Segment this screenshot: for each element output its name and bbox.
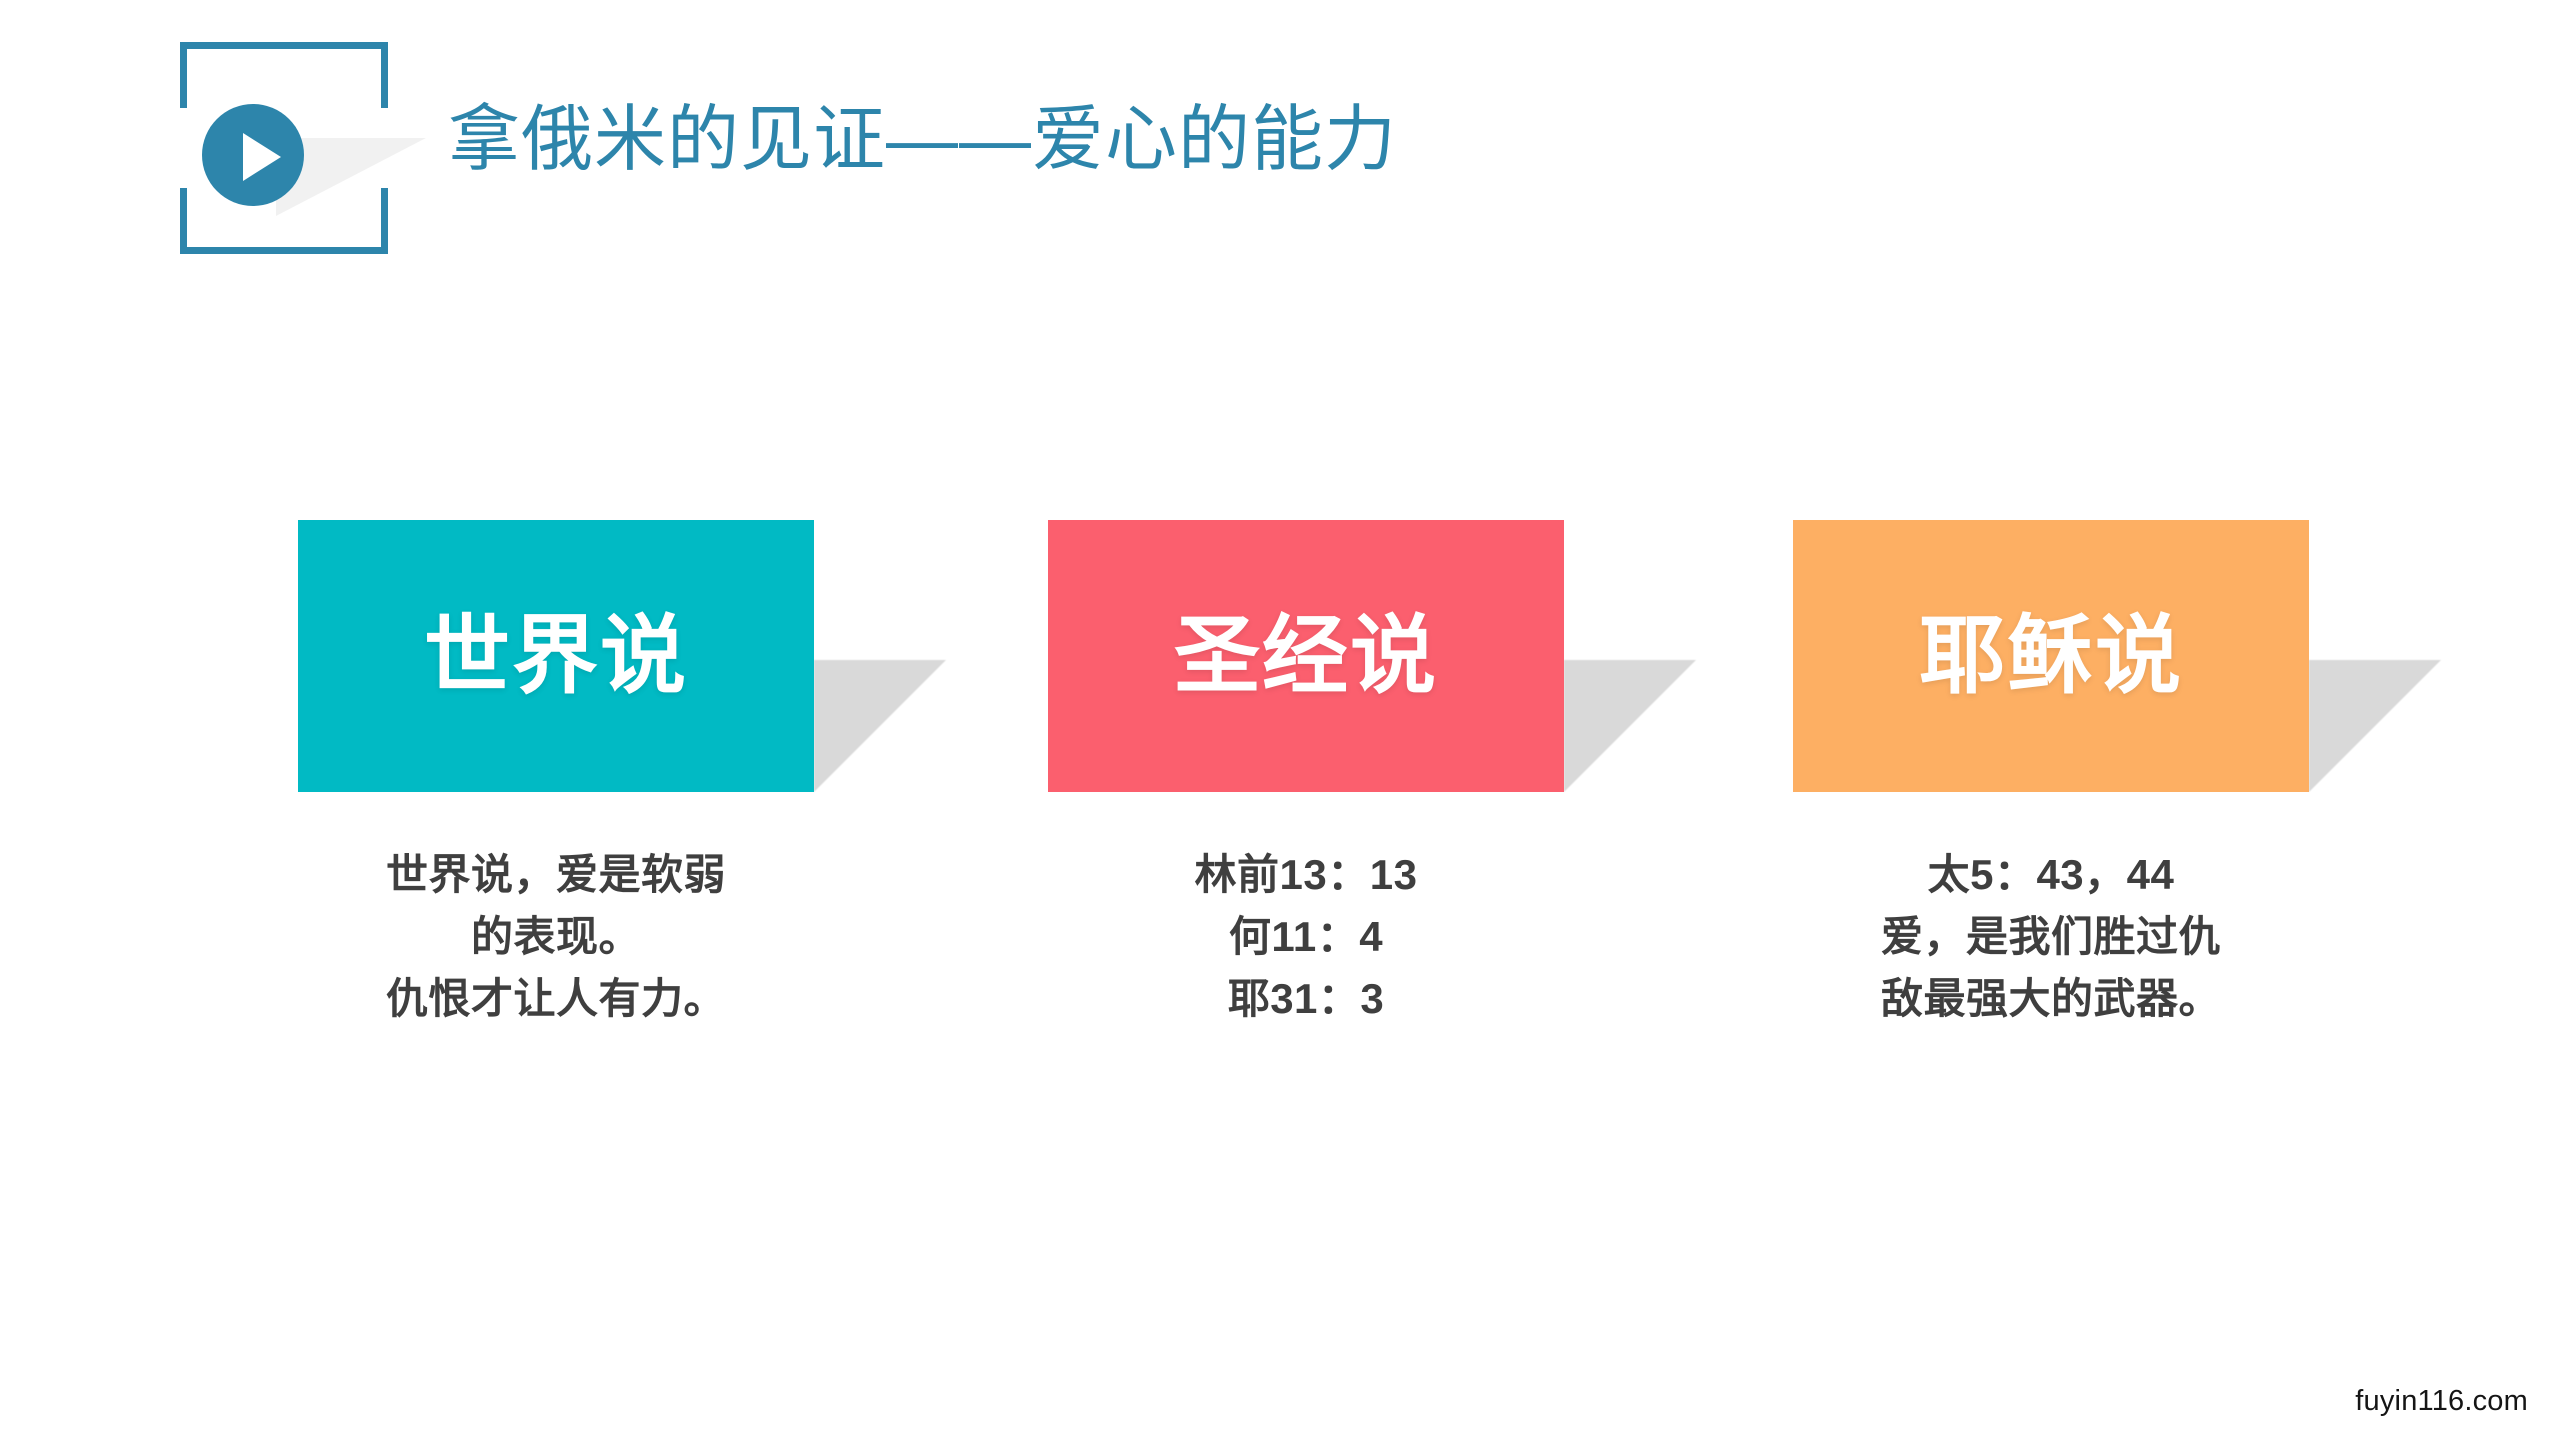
card-label: 圣经说 (1174, 613, 1438, 699)
comparison-card-world: 世界说 世界说，爱是软弱 的表现。 仇恨才让人有力。 (298, 520, 814, 1030)
caption-line: 林前13：13 (1048, 844, 1564, 906)
caption-line: 的表现。 (298, 906, 814, 968)
card-long-shadow (814, 660, 946, 792)
play-triangle-icon (243, 133, 281, 181)
play-button-logo (180, 42, 388, 254)
caption-line: 耶31：3 (1048, 968, 1564, 1030)
caption-line: 何11：4 (1048, 906, 1564, 968)
caption-line: 世界说，爱是软弱 (298, 844, 814, 906)
caption-line: 仇恨才让人有力。 (298, 968, 814, 1030)
caption-line: 爱，是我们胜过仇 (1793, 906, 2309, 968)
card-banner: 世界说 (298, 520, 814, 792)
comparison-card-group: 世界说 世界说，爱是软弱 的表现。 仇恨才让人有力。 圣经说 林前13：13 何… (0, 520, 2560, 1220)
card-long-shadow (1564, 660, 1696, 792)
slide-header: 拿俄米的见证——爱心的能力 (0, 0, 2560, 300)
card-caption: 太5：43，44 爱，是我们胜过仇 敌最强大的武器。 (1793, 844, 2309, 1030)
caption-line: 敌最强大的武器。 (1793, 968, 2309, 1030)
slide-root: 拿俄米的见证——爱心的能力 世界说 世界说，爱是软弱 的表现。 仇恨才让人有力。… (0, 0, 2560, 1440)
card-banner: 耶稣说 (1793, 520, 2309, 792)
card-caption: 世界说，爱是软弱 的表现。 仇恨才让人有力。 (298, 844, 814, 1030)
card-banner: 圣经说 (1048, 520, 1564, 792)
card-caption: 林前13：13 何11：4 耶31：3 (1048, 844, 1564, 1030)
play-circle-icon (202, 104, 304, 206)
card-long-shadow (2309, 660, 2441, 792)
card-label: 世界说 (424, 613, 688, 699)
comparison-card-jesus: 耶稣说 太5：43，44 爱，是我们胜过仇 敌最强大的武器。 (1793, 520, 2309, 1030)
card-label: 耶稣说 (1919, 613, 2183, 699)
page-title: 拿俄米的见证——爱心的能力 (448, 92, 1397, 188)
caption-line: 太5：43，44 (1793, 844, 2309, 906)
comparison-card-bible: 圣经说 林前13：13 何11：4 耶31：3 (1048, 520, 1564, 1030)
site-watermark: fuyin116.com (2355, 1385, 2528, 1418)
